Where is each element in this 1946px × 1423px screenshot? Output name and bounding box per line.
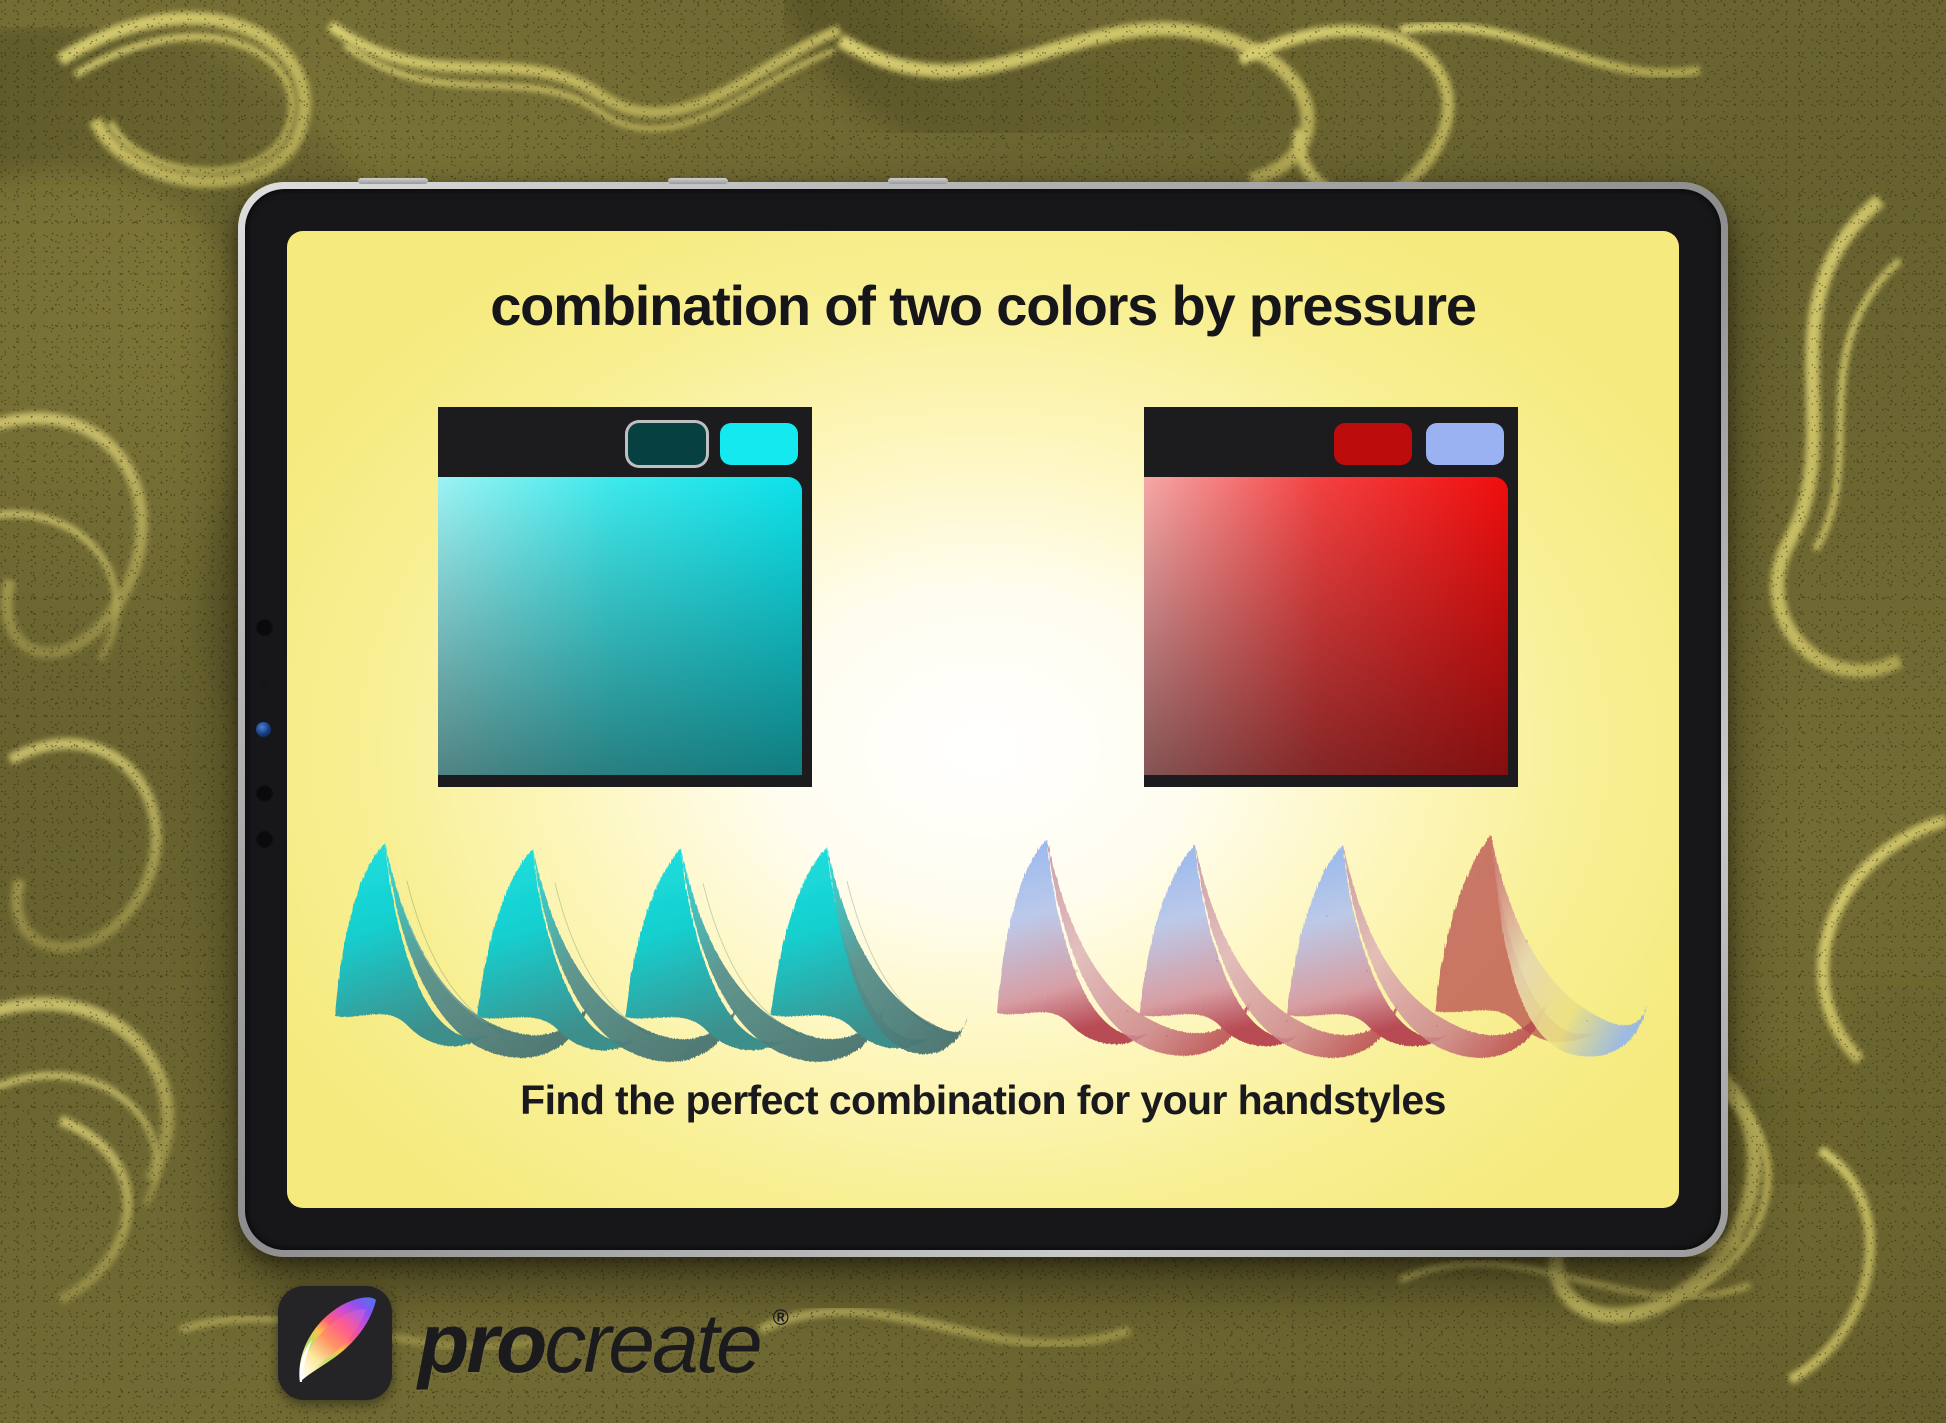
brush-stroke-red-blue (987, 821, 1647, 1071)
tablet-screen: combination of two colors by pressure (287, 231, 1679, 1208)
brush-stroke-teal (327, 821, 967, 1071)
logo-word-bold: pro (418, 1296, 544, 1390)
procreate-logo[interactable]: procreate® (278, 1286, 760, 1400)
camera-lens-icon (256, 785, 273, 802)
picker-header (438, 407, 812, 477)
registered-mark: ® (773, 1307, 786, 1329)
color-gradient-field-teal[interactable] (438, 477, 802, 775)
sensor-dot-icon (261, 683, 267, 689)
swatch-dark-red[interactable] (1334, 423, 1412, 465)
indicator-light-icon (256, 722, 271, 737)
swatch-dark-teal[interactable] (628, 423, 706, 465)
swatch-cyan[interactable] (720, 423, 798, 465)
tablet-bezel: combination of two colors by pressure (245, 189, 1721, 1250)
screenshot-root: combination of two colors by pressure (0, 0, 1946, 1423)
color-gradient-field-red[interactable] (1144, 477, 1508, 775)
tablet-button-nub (668, 178, 728, 184)
procreate-wordmark: procreate® (418, 1301, 760, 1385)
tablet-device: combination of two colors by pressure (238, 182, 1728, 1257)
tablet-button-nub (358, 178, 428, 184)
tablet-button-nub (888, 178, 948, 184)
page-title: combination of two colors by pressure (287, 273, 1679, 338)
camera-lens-icon (256, 831, 273, 848)
procreate-feather-icon (278, 1286, 392, 1400)
swatch-periwinkle[interactable] (1426, 423, 1504, 465)
color-picker-teal[interactable] (438, 407, 812, 787)
picker-header (1144, 407, 1518, 477)
color-picker-red[interactable] (1144, 407, 1518, 787)
logo-word-light: create (544, 1296, 759, 1390)
page-caption: Find the perfect combination for your ha… (287, 1077, 1679, 1124)
camera-lens-icon (256, 619, 273, 636)
